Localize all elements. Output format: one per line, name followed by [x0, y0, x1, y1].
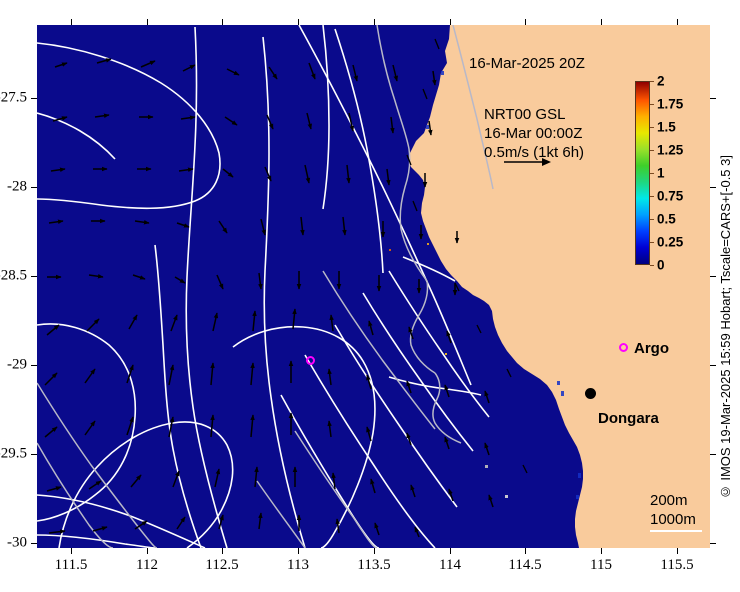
- x-tick-label: 114.5: [508, 557, 541, 574]
- x-tick-label: 113.5: [357, 557, 390, 574]
- colorbar-tick-label: 0.75: [657, 189, 683, 204]
- x-tick-top: [147, 19, 148, 25]
- x-tick-top: [677, 19, 678, 25]
- map-plot-area[interactable]: 16-Mar-2025 20Z NRT00 GSL 16-Mar 00:00Z …: [37, 25, 710, 548]
- figure-canvas: 16-Mar-2025 20Z NRT00 GSL 16-Mar 00:00Z …: [0, 0, 740, 592]
- x-tick: [71, 548, 72, 554]
- x-tick: [525, 548, 526, 554]
- vector-scale-arrow-icon: [502, 155, 554, 169]
- colorbar-tick: [650, 173, 654, 174]
- colorbar-tick-label: 0.5: [657, 212, 676, 227]
- product-line-1: NRT00 GSL: [484, 105, 584, 124]
- colorbar-tick: [650, 196, 654, 197]
- x-tick-top: [601, 19, 602, 25]
- y-tick-label: -28.5: [0, 268, 27, 285]
- x-tick: [450, 548, 451, 554]
- x-tick-top: [450, 19, 451, 25]
- depth-contour-legend: 200m 1000m: [650, 491, 702, 532]
- colorbar-tick-label: 1.5: [657, 120, 676, 135]
- colorbar-tick: [650, 104, 654, 105]
- y-tick-right: [710, 187, 716, 188]
- y-tick: [31, 454, 37, 455]
- depth-legend-rule: [650, 530, 702, 532]
- x-tick: [601, 548, 602, 554]
- y-tick-label: -28: [0, 179, 27, 196]
- dongara-label: Dongara: [598, 410, 659, 427]
- x-tick-label: 115: [590, 557, 612, 574]
- x-tick: [677, 548, 678, 554]
- timestamp-annotation: 16-Mar-2025 20Z: [469, 55, 585, 72]
- x-tick-top: [71, 19, 72, 25]
- colorbar-gradient: [635, 81, 650, 265]
- x-tick: [374, 548, 375, 554]
- ocean-field-layer: [37, 25, 710, 548]
- product-line-2: 16-Mar 00:00Z: [484, 124, 584, 143]
- colorbar-tick-label: 2: [657, 74, 665, 89]
- colorbar-tick-label: 1.25: [657, 143, 683, 158]
- x-tick-label: 113: [287, 557, 309, 574]
- y-tick: [31, 276, 37, 277]
- y-tick: [31, 365, 37, 366]
- depth-legend-200m: 200m: [650, 491, 702, 510]
- colorbar-tick-label: 1: [657, 166, 665, 181]
- y-tick-right: [710, 454, 716, 455]
- colorbar-tick: [650, 219, 654, 220]
- x-tick-label: 114: [439, 557, 461, 574]
- y-tick: [31, 98, 37, 99]
- x-tick-top: [374, 19, 375, 25]
- depth-legend-1000m: 1000m: [650, 510, 702, 529]
- y-tick-label: -30: [0, 535, 27, 552]
- colorbar-tick: [650, 127, 654, 128]
- y-tick-label: -29: [0, 357, 27, 374]
- y-tick-right: [710, 365, 716, 366]
- y-tick: [31, 187, 37, 188]
- x-tick-label: 112: [136, 557, 158, 574]
- argo-float-marker-icon[interactable]: [306, 356, 315, 365]
- x-tick-top: [298, 19, 299, 25]
- x-tick-top: [222, 19, 223, 25]
- colorbar-tick: [650, 265, 654, 266]
- argo-legend-marker-icon: [619, 343, 628, 352]
- x-tick: [222, 548, 223, 554]
- x-tick: [298, 548, 299, 554]
- x-tick-label: 112.5: [205, 557, 238, 574]
- colorbar-tick: [650, 242, 654, 243]
- x-tick-label: 115.5: [660, 557, 693, 574]
- colorbar-tick: [650, 81, 654, 82]
- y-tick-label: -27.5: [0, 90, 27, 107]
- y-tick: [31, 543, 37, 544]
- x-tick-label: 111.5: [55, 557, 88, 574]
- y-tick-right: [710, 276, 716, 277]
- x-tick: [147, 548, 148, 554]
- colorbar-tick-label: 1.75: [657, 97, 683, 112]
- product-annotation-block: NRT00 GSL 16-Mar 00:00Z 0.5m/s (1kt 6h): [484, 105, 584, 162]
- dongara-marker-icon: [585, 388, 596, 399]
- y-tick-label: -29.5: [0, 446, 27, 463]
- colorbar-tick-label: 0: [657, 258, 665, 273]
- x-tick-top: [525, 19, 526, 25]
- colorbar-tick: [650, 150, 654, 151]
- colorbar-tick-label: 0.25: [657, 235, 683, 250]
- argo-legend-label: Argo: [634, 340, 669, 357]
- copyright-credit: © IMOS 19-Mar-2025 15:59 Hobart; Tscale=…: [718, 155, 733, 499]
- y-tick-right: [710, 98, 716, 99]
- y-tick-right: [710, 543, 716, 544]
